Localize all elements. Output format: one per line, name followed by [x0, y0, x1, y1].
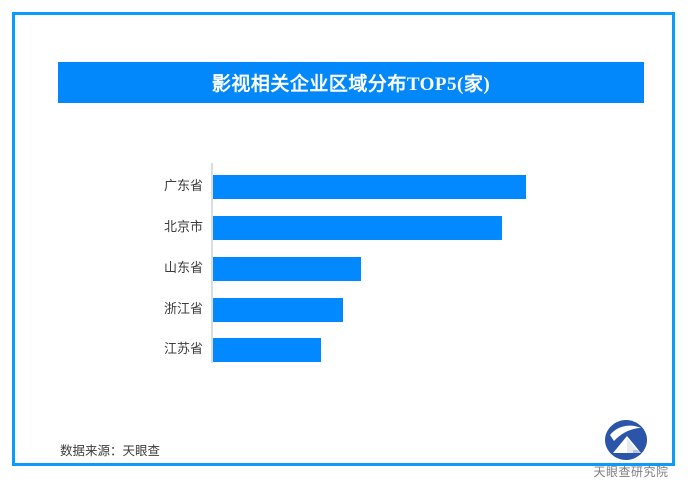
bar-3 — [213, 298, 343, 322]
chart-row: 山东省 — [15, 257, 672, 281]
category-label-1: 北京市 — [15, 216, 203, 240]
data-source-label: 数据来源：天眼查 — [60, 440, 160, 459]
chart-row: 江苏省 — [15, 338, 672, 362]
chart-card: 影视相关企业区域分布TOP5(家) 广东省 北京市 山东省 浙江省 江苏省 数据… — [12, 12, 675, 466]
bar-4 — [213, 338, 321, 362]
brand-logo: 天眼查研究院 — [581, 419, 681, 485]
bar-1 — [213, 216, 502, 240]
logo-text: 天眼查研究院 — [581, 463, 681, 480]
chart-row: 北京市 — [15, 216, 672, 240]
page-title: 影视相关企业区域分布TOP5(家) — [212, 69, 490, 96]
bar-2 — [213, 257, 361, 281]
category-label-2: 山东省 — [15, 257, 203, 281]
category-label-4: 江苏省 — [15, 338, 203, 362]
category-label-3: 浙江省 — [15, 298, 203, 322]
bar-0 — [213, 175, 526, 199]
title-banner: 影视相关企业区域分布TOP5(家) — [58, 62, 644, 103]
tianyancha-logo-icon — [603, 419, 649, 461]
chart-row: 浙江省 — [15, 298, 672, 322]
chart-row: 广东省 — [15, 175, 672, 199]
bar-chart: 广东省 北京市 山东省 浙江省 江苏省 — [15, 140, 672, 385]
category-label-0: 广东省 — [15, 175, 203, 199]
